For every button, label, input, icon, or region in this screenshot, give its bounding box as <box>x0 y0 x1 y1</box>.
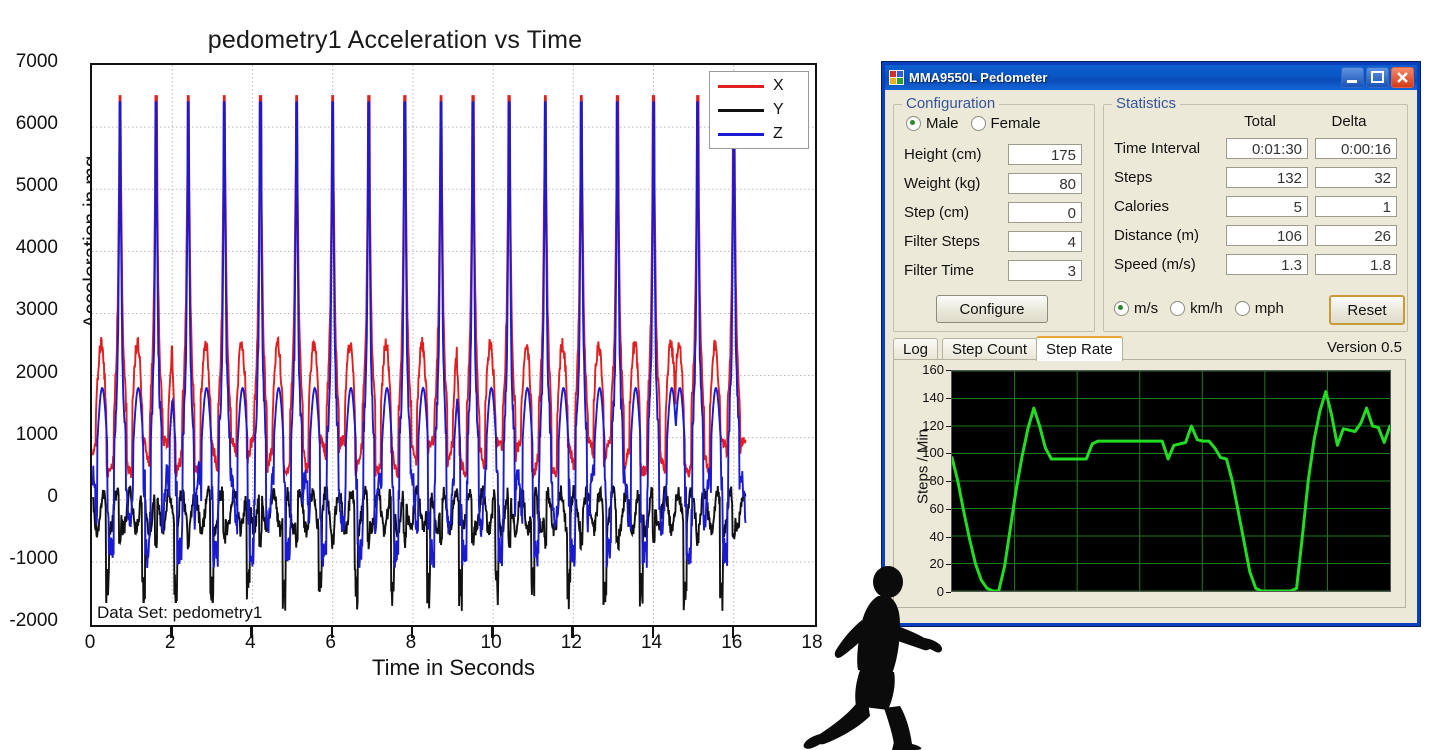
filter-time-input[interactable]: 3 <box>1008 260 1082 281</box>
chart-dataset-annotation: Data Set: pedometry1 <box>96 603 263 623</box>
step-rate-y-tick: 60 <box>910 501 944 516</box>
time-interval-label: Time Interval <box>1114 140 1226 157</box>
radio-female-label: Female <box>991 115 1041 132</box>
step-rate-y-axis-label: Steps / Min <box>915 392 932 542</box>
radio-male[interactable] <box>906 116 921 131</box>
configuration-group: Configuration Male Female Height (cm) 17… <box>893 104 1095 332</box>
chart-y-tick: 0 <box>0 486 58 508</box>
tab-log[interactable]: Log <box>893 338 938 360</box>
legend-item-y: Y <box>710 98 808 122</box>
distance-label: Distance (m) <box>1114 227 1226 244</box>
field-row-step: Step (cm) 0 <box>904 201 1082 224</box>
chart-title: pedometry1 Acceleration vs Time <box>0 26 790 55</box>
step-rate-plot-area <box>951 370 1391 592</box>
chart-x-tick: 0 <box>60 632 120 654</box>
chart-traces <box>92 65 814 624</box>
close-button[interactable] <box>1391 67 1414 88</box>
steps-label: Steps <box>1114 169 1226 186</box>
legend-swatch-z <box>718 133 764 136</box>
chart-x-tickmark <box>732 627 735 638</box>
window-title: MMA9550L Pedometer <box>909 70 1339 85</box>
chart-x-axis-label: Time in Seconds <box>90 655 817 681</box>
step-rate-y-tick: 80 <box>910 473 944 488</box>
legend-label-z: Z <box>773 125 783 143</box>
statistics-group: Statistics Total Delta Time Interval 0:0… <box>1103 104 1408 332</box>
app-icon <box>889 70 904 85</box>
stat-row-steps: Steps 132 32 <box>1114 166 1397 189</box>
step-rate-y-tick: 160 <box>910 362 944 377</box>
radio-female[interactable] <box>971 116 986 131</box>
speed-label: Speed (m/s) <box>1114 256 1226 273</box>
minimize-button[interactable] <box>1341 67 1364 88</box>
configure-button[interactable]: Configure <box>936 295 1048 323</box>
time-interval-total: 0:01:30 <box>1226 138 1308 159</box>
calories-label: Calories <box>1114 198 1226 215</box>
chart-y-tick: 6000 <box>0 113 58 135</box>
speed-total: 1.3 <box>1226 254 1308 275</box>
radio-ms-label: m/s <box>1134 300 1158 317</box>
reset-button[interactable]: Reset <box>1329 295 1405 325</box>
chart-y-tick: 2000 <box>0 362 58 384</box>
step-label: Step (cm) <box>904 204 1008 221</box>
radio-kmh[interactable] <box>1170 301 1185 316</box>
maximize-button[interactable] <box>1366 67 1389 88</box>
configuration-group-title: Configuration <box>902 95 999 112</box>
weight-label: Weight (kg) <box>904 175 1008 192</box>
version-label: Version 0.5 <box>1327 339 1402 356</box>
chart-y-tick: -1000 <box>0 548 58 570</box>
chart-y-tick: 4000 <box>0 237 58 259</box>
weight-input[interactable]: 80 <box>1008 173 1082 194</box>
acceleration-chart-panel: pedometry1 Acceleration vs Time Accelera… <box>0 0 880 700</box>
radio-mph[interactable] <box>1235 301 1250 316</box>
tab-strip: Log Step Count Step Rate Version 0.5 <box>893 336 1406 360</box>
height-label: Height (cm) <box>904 146 1008 163</box>
radio-kmh-label: km/h <box>1190 300 1223 317</box>
step-rate-y-tick: 40 <box>910 529 944 544</box>
chart-y-tick: 7000 <box>0 51 58 73</box>
radio-ms[interactable] <box>1114 301 1129 316</box>
window-body: Configuration Male Female Height (cm) 17… <box>885 90 1417 623</box>
legend-item-x: X <box>710 74 808 98</box>
height-input[interactable]: 175 <box>1008 144 1082 165</box>
stat-row-calories: Calories 5 1 <box>1114 195 1397 218</box>
step-rate-y-tick: 100 <box>910 445 944 460</box>
chart-x-tickmark <box>491 627 494 638</box>
step-rate-y-tick: 120 <box>910 418 944 433</box>
chart-plot-area: X Y Z <box>90 63 817 627</box>
tab-step-count[interactable]: Step Count <box>942 338 1037 360</box>
filter-steps-input[interactable]: 4 <box>1008 231 1082 252</box>
chart-y-tick: 1000 <box>0 424 58 446</box>
chart-x-tickmark <box>250 627 253 638</box>
field-row-weight: Weight (kg) 80 <box>904 172 1082 195</box>
chart-x-tickmark <box>170 627 173 638</box>
calories-delta: 1 <box>1315 196 1397 217</box>
steps-delta: 32 <box>1315 167 1397 188</box>
chart-y-tick: -2000 <box>0 610 58 632</box>
pedometer-window: MMA9550L Pedometer Configuration Male Fe… <box>882 62 1420 626</box>
column-header-delta: Delta <box>1309 113 1389 130</box>
calories-total: 5 <box>1226 196 1308 217</box>
runner-silhouette-icon <box>800 558 960 750</box>
stat-row-time-interval: Time Interval 0:01:30 0:00:16 <box>1114 137 1397 160</box>
column-header-total: Total <box>1220 113 1300 130</box>
time-interval-delta: 0:00:16 <box>1315 138 1397 159</box>
distance-delta: 26 <box>1315 225 1397 246</box>
chart-x-tickmark <box>571 627 574 638</box>
step-input[interactable]: 0 <box>1008 202 1082 223</box>
step-rate-graph-panel: Steps / Min 020406080100120140160 <box>893 359 1406 608</box>
radio-male-label: Male <box>926 115 959 132</box>
gender-radio-group: Male Female <box>906 115 1053 132</box>
steps-total: 132 <box>1226 167 1308 188</box>
stat-row-distance: Distance (m) 106 26 <box>1114 224 1397 247</box>
chart-y-tick: 5000 <box>0 175 58 197</box>
unit-radio-group: m/s km/h mph <box>1114 300 1296 317</box>
legend-item-z: Z <box>710 122 808 146</box>
filter-time-label: Filter Time <box>904 262 1008 279</box>
field-row-filter-steps: Filter Steps 4 <box>904 230 1082 253</box>
chart-legend: X Y Z <box>709 71 809 149</box>
filter-steps-label: Filter Steps <box>904 233 1008 250</box>
field-row-height: Height (cm) 175 <box>904 143 1082 166</box>
field-row-filter-time: Filter Time 3 <box>904 259 1082 282</box>
step-rate-y-tick: 140 <box>910 390 944 405</box>
legend-swatch-y <box>718 109 764 112</box>
speed-delta: 1.8 <box>1315 254 1397 275</box>
statistics-group-title: Statistics <box>1112 95 1180 112</box>
chart-x-tickmark <box>411 627 414 638</box>
chart-x-tickmark <box>331 627 334 638</box>
chart-x-tickmark <box>652 627 655 638</box>
tab-step-rate[interactable]: Step Rate <box>1036 336 1123 361</box>
legend-label-y: Y <box>773 101 784 119</box>
stat-row-speed: Speed (m/s) 1.3 1.8 <box>1114 253 1397 276</box>
legend-label-x: X <box>773 77 784 95</box>
chart-y-tick: 3000 <box>0 299 58 321</box>
legend-swatch-x <box>718 85 764 88</box>
distance-total: 106 <box>1226 225 1308 246</box>
window-titlebar[interactable]: MMA9550L Pedometer <box>885 65 1417 90</box>
radio-mph-label: mph <box>1255 300 1284 317</box>
step-rate-line <box>952 371 1390 591</box>
